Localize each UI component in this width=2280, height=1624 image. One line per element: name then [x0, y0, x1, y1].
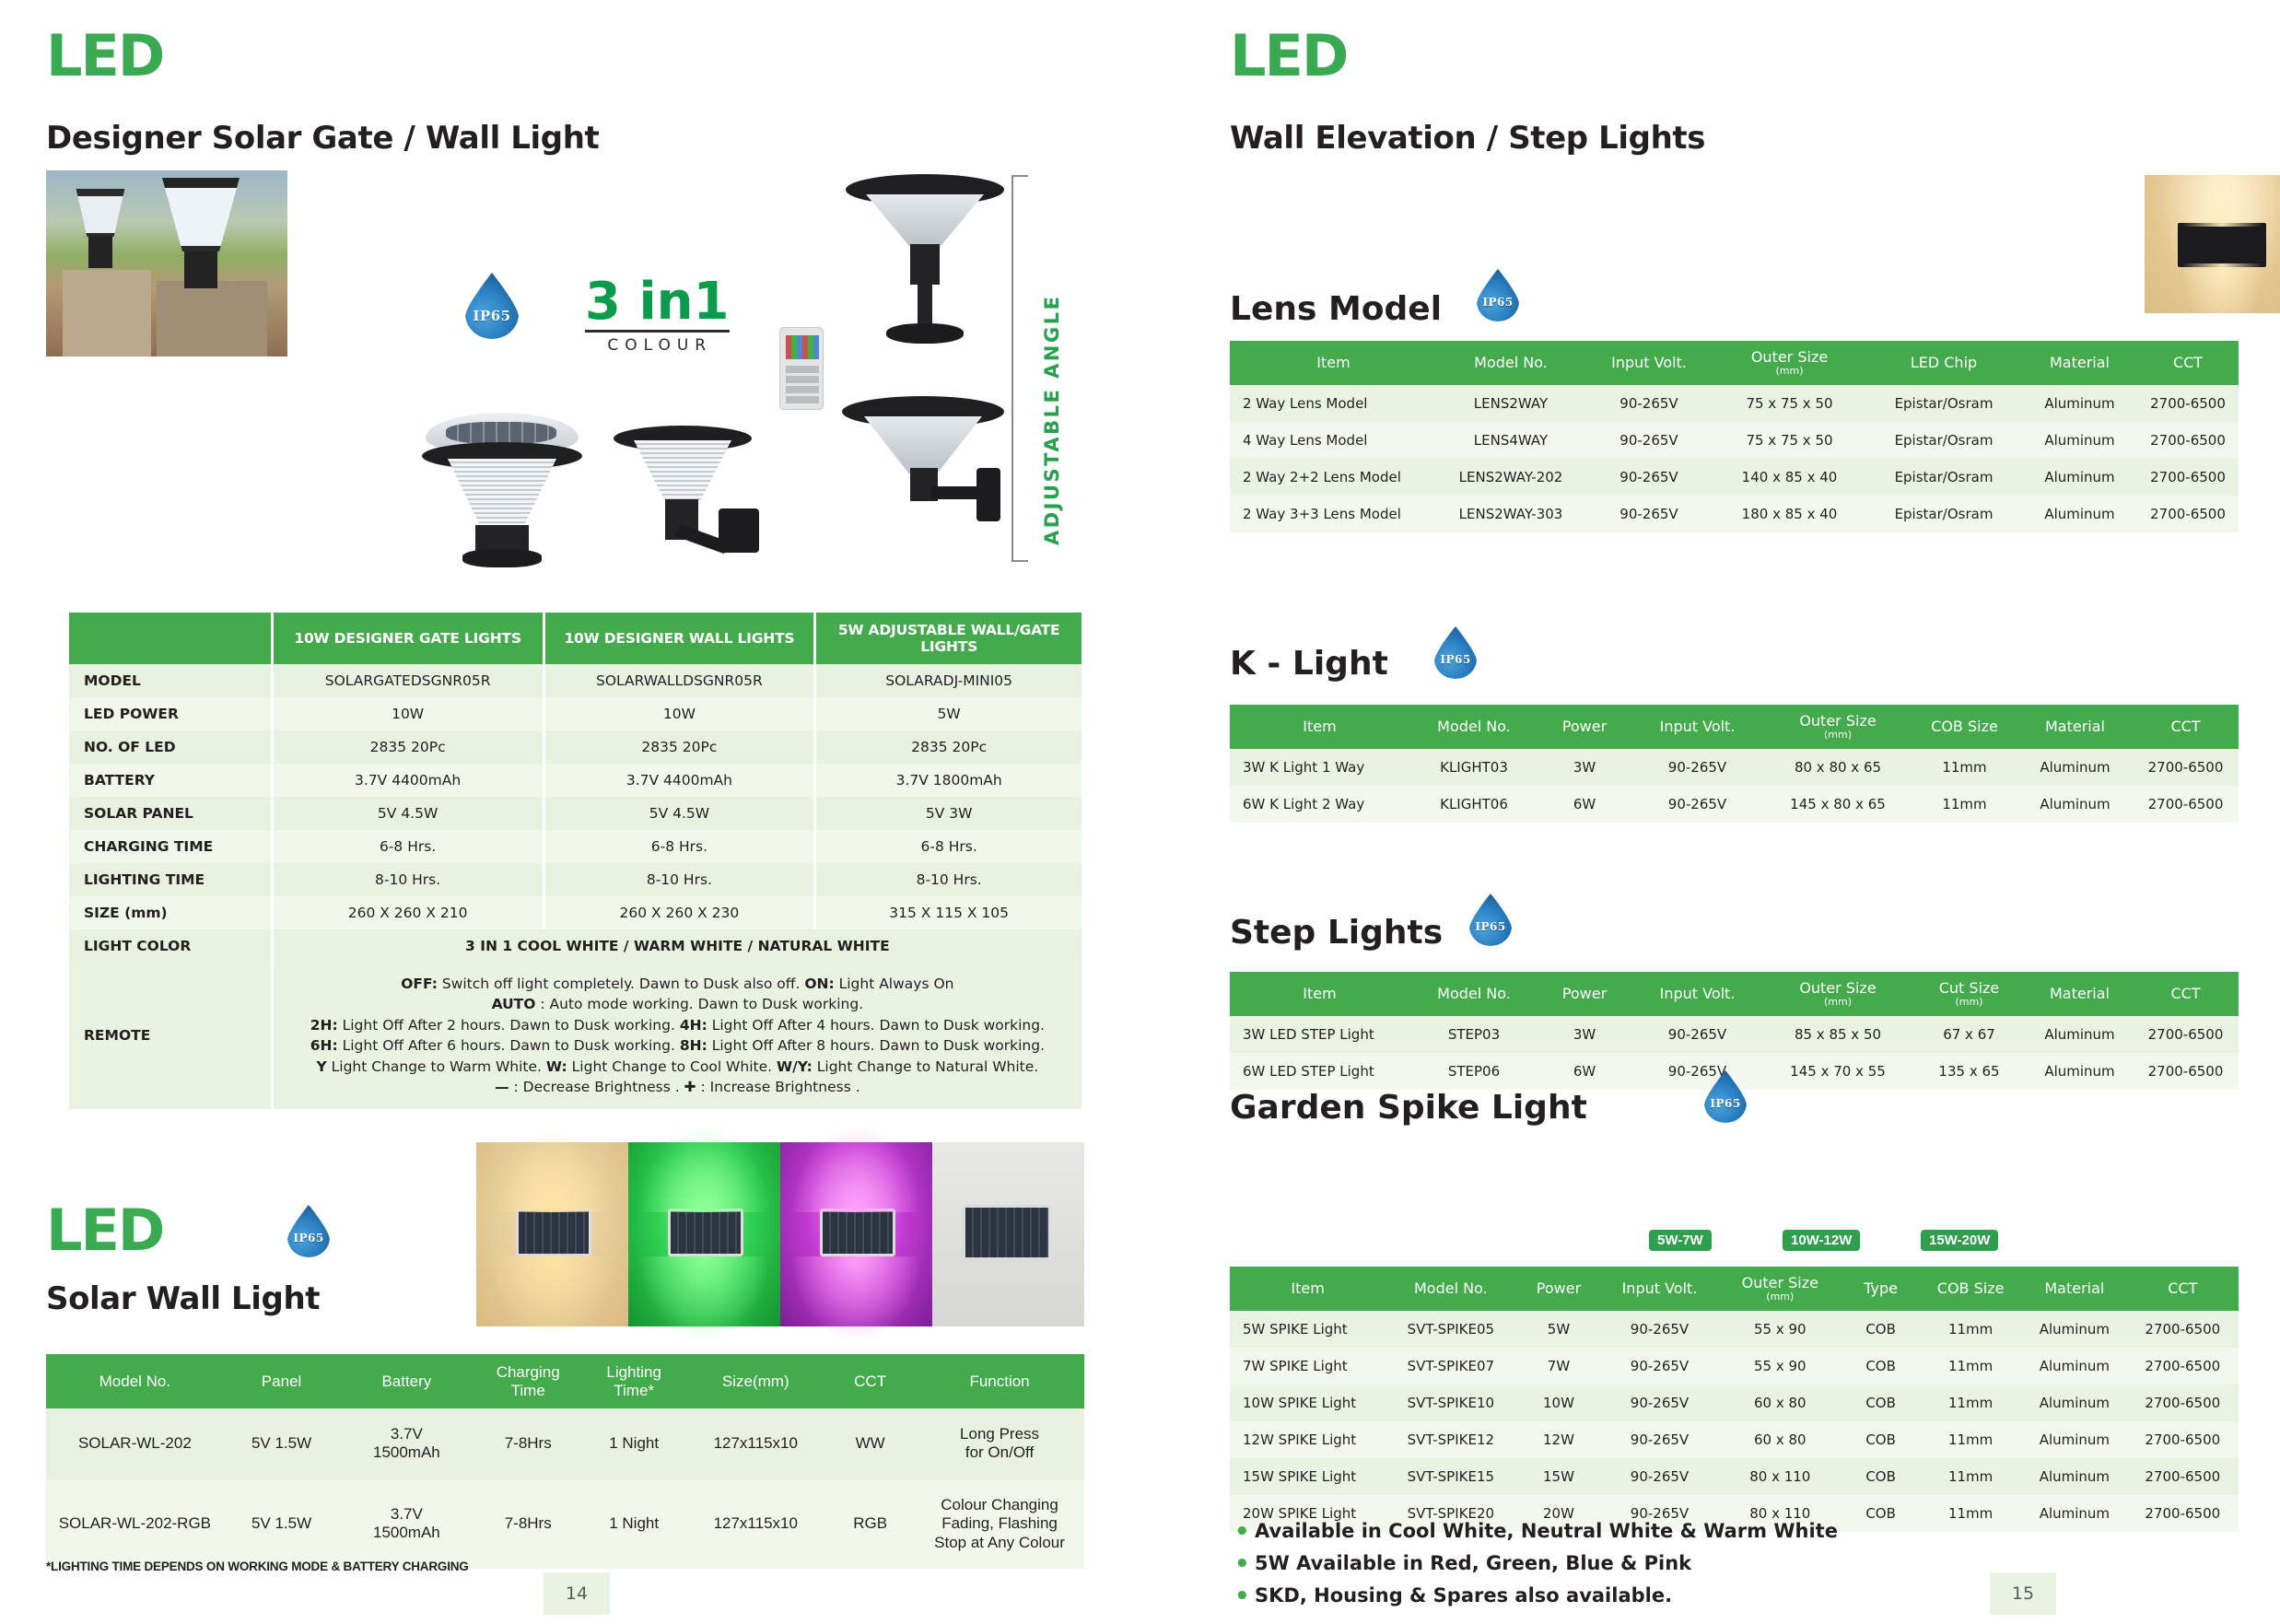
feature-bullet: Available in Cool White, Neutral White &…	[1234, 1520, 1838, 1542]
table-row: SOLAR PANEL5V 4.5W5V 4.5W5V 3W	[69, 797, 1082, 830]
data-cell: Aluminum	[2022, 1311, 2126, 1348]
solar-wall-title: Solar Wall Light	[46, 1280, 320, 1317]
data-cell: 80 x 110	[1717, 1458, 1842, 1495]
photo-warm-white	[476, 1142, 628, 1326]
item-cell: 10W SPIKE Light	[1230, 1384, 1386, 1421]
data-cell: 135 x 65	[1912, 1053, 2027, 1090]
designer-spec-table: 10W DESIGNER GATE LIGHTS 10W DESIGNER WA…	[66, 613, 1084, 1109]
table-row: 5W SPIKE LightSVT-SPIKE055W90-265V55 x 9…	[1230, 1311, 2239, 1348]
data-cell: Epistar/Osram	[1865, 496, 2022, 532]
lens-model-table: ItemModel No.Input Volt.Outer Size(mm)LE…	[1230, 341, 2239, 532]
wl-cell: 7-8Hrs	[474, 1408, 582, 1479]
wl-col-header: Panel	[224, 1354, 340, 1408]
page-number-left: 14	[544, 1572, 610, 1615]
data-cell: 11mm	[1919, 1458, 2022, 1495]
data-cell: 90-265V	[1631, 1016, 1764, 1053]
data-cell: Aluminum	[2027, 1016, 2133, 1053]
lens-photo-2way	[2145, 175, 2280, 313]
table-row: SOLAR-WL-202-RGB5V 1.5W3.7V1500mAh7-8Hrs…	[46, 1479, 1084, 1569]
spec-row-label: MODEL	[69, 664, 271, 697]
col-header: Input Volt.	[1631, 705, 1764, 749]
data-cell: 5W	[1515, 1311, 1601, 1348]
col-header-unit: (mm)	[1721, 1291, 1839, 1303]
data-cell: Aluminum	[2022, 422, 2137, 459]
col-header: CCT	[2127, 1267, 2239, 1311]
table-row: CHARGING TIME6-8 Hrs.6-8 Hrs.6-8 Hrs.	[69, 830, 1082, 863]
data-cell: SVT-SPIKE05	[1386, 1311, 1515, 1348]
item-cell: 15W SPIKE Light	[1230, 1458, 1386, 1495]
table-header-row: ItemModel No.PowerInput Volt.Outer Size(…	[1230, 972, 2239, 1016]
table-row: LED POWER10W10W5W	[69, 697, 1082, 730]
spec-cell: 6-8 Hrs.	[545, 830, 814, 863]
wall-lamp-render-2	[608, 405, 792, 571]
data-cell: 6W	[1538, 786, 1631, 823]
table-row: 7W SPIKE LightSVT-SPIKE077W90-265V55 x 9…	[1230, 1348, 2239, 1384]
wl-cell: Long Pressfor On/Off	[915, 1408, 1084, 1479]
data-cell: Aluminum	[2017, 749, 2133, 786]
light-color-value: 3 IN 1 COOL WHITE / WARM WHITE / NATURAL…	[274, 929, 1082, 963]
data-cell: 90-265V	[1584, 422, 1713, 459]
col-header: CCT	[2137, 341, 2239, 385]
col-header-unit: (mm)	[1768, 730, 1908, 741]
th-blank	[69, 613, 271, 664]
data-cell: 90-265V	[1584, 459, 1713, 496]
ip65-badge-solar-wall: IP65	[287, 1205, 330, 1257]
data-cell: COB	[1842, 1348, 1919, 1384]
spec-cell: 5V 4.5W	[274, 797, 543, 830]
data-cell: 11mm	[1912, 749, 2017, 786]
data-cell: Aluminum	[2022, 1384, 2126, 1421]
data-cell: 2700-6500	[2133, 1016, 2239, 1053]
data-cell: Aluminum	[2022, 1348, 2126, 1384]
solar-wall-photos	[476, 1142, 1084, 1326]
table-row: 4 Way Lens ModelLENS4WAY90-265V75 x 75 x…	[1230, 422, 2239, 459]
data-cell: 145 x 70 x 55	[1764, 1053, 1912, 1090]
col-header: Model No.	[1409, 705, 1538, 749]
col-header: CCT	[2133, 972, 2239, 1016]
spec-row-label: LED POWER	[69, 697, 271, 730]
wl-cell: RGB	[825, 1479, 915, 1569]
data-cell: 90-265V	[1602, 1311, 1718, 1348]
klight-table: ItemModel No.PowerInput Volt.Outer Size(…	[1230, 705, 2239, 823]
data-cell: KLIGHT06	[1409, 786, 1538, 823]
data-cell: 2700-6500	[2127, 1348, 2239, 1384]
data-cell: COB	[1842, 1384, 1919, 1421]
data-cell: 3W	[1538, 749, 1631, 786]
wl-col-header: Battery	[339, 1354, 474, 1408]
page-title-left: Designer Solar Gate / Wall Light	[46, 120, 599, 157]
wl-col-header: CCT	[825, 1354, 915, 1408]
photo-product-off	[932, 1142, 1084, 1326]
th-wall: 10W DESIGNER WALL LIGHTS	[545, 613, 814, 664]
data-cell: 85 x 85 x 50	[1764, 1016, 1912, 1053]
table-row: SOLAR-WL-2025V 1.5W3.7V1500mAh7-8Hrs1 Ni…	[46, 1408, 1084, 1479]
table-row: BATTERY3.7V 4400mAh3.7V 4400mAh3.7V 1800…	[69, 764, 1082, 797]
table-row: 12W SPIKE LightSVT-SPIKE1212W90-265V60 x…	[1230, 1421, 2239, 1458]
data-cell: 2700-6500	[2133, 749, 2239, 786]
wl-cell: 5V 1.5W	[224, 1408, 340, 1479]
adjustable-lamp-render-top	[829, 170, 1023, 355]
col-header: Model No.	[1409, 972, 1538, 1016]
data-cell: 2700-6500	[2137, 496, 2239, 532]
adjustable-lamp-render-bottom	[829, 387, 1027, 562]
table-header-row: ItemModel No.PowerInput Volt.Outer Size(…	[1230, 705, 2239, 749]
data-cell: 11mm	[1919, 1348, 2022, 1384]
spec-cell: 2835 20Pc	[545, 730, 814, 764]
data-cell: Epistar/Osram	[1865, 422, 2022, 459]
col-header: Power	[1538, 705, 1631, 749]
data-cell: 90-265V	[1602, 1384, 1718, 1421]
table-header-row: ItemModel No.PowerInput Volt.Outer Size(…	[1230, 1267, 2239, 1311]
data-cell: SVT-SPIKE12	[1386, 1421, 1515, 1458]
data-cell: 67 x 67	[1912, 1016, 2027, 1053]
data-cell: KLIGHT03	[1409, 749, 1538, 786]
item-cell: 6W LED STEP Light	[1230, 1053, 1409, 1090]
data-cell: Aluminum	[2022, 1495, 2126, 1532]
lens-model-title: Lens Model	[1230, 290, 1442, 328]
item-cell: 4 Way Lens Model	[1230, 422, 1437, 459]
col-header: Outer Size(mm)	[1764, 972, 1912, 1016]
table-row: MODELSOLARGATEDSGNR05RSOLARWALLDSGNR05RS…	[69, 664, 1082, 697]
solar-wall-footnote: *LIGHTING TIME DEPENDS ON WORKING MODE &…	[46, 1560, 469, 1573]
table-header-row: Model No.PanelBatteryChargingTimeLightin…	[46, 1354, 1084, 1408]
data-cell: 2700-6500	[2127, 1311, 2239, 1348]
spec-cell: 315 X 115 X 105	[816, 896, 1082, 929]
data-cell: LENS2WAY-202	[1437, 459, 1584, 496]
data-cell: 55 x 90	[1717, 1311, 1842, 1348]
left-page: LED Designer Solar Gate / Wall Light IP6…	[0, 0, 1142, 1624]
item-cell: 2 Way 3+3 Lens Model	[1230, 496, 1437, 532]
table-row-light-color: LIGHT COLOR3 IN 1 COOL WHITE / WARM WHIT…	[69, 929, 1082, 963]
data-cell: 11mm	[1919, 1421, 2022, 1458]
data-cell: 90-265V	[1584, 496, 1713, 532]
gate-lamp-render-1	[415, 405, 590, 571]
col-header-unit: (mm)	[1768, 997, 1908, 1008]
wl-col-header: LightingTime*	[582, 1354, 685, 1408]
wattage-badge: 10W-12W	[1783, 1230, 1860, 1251]
data-cell: 11mm	[1912, 786, 2017, 823]
spec-cell: 8-10 Hrs.	[274, 863, 543, 896]
feature-bullet: SKD, Housing & Spares also available.	[1234, 1584, 1838, 1606]
table-row: 3W K Light 1 WayKLIGHT033W90-265V80 x 80…	[1230, 749, 2239, 786]
data-cell: 10W	[1515, 1384, 1601, 1421]
data-cell: 11mm	[1919, 1311, 2022, 1348]
brand-logo-right: LED	[1230, 28, 1347, 85]
remote-control-image	[779, 327, 824, 410]
data-cell: 90-265V	[1584, 385, 1713, 422]
wl-cell: 1 Night	[582, 1479, 685, 1569]
water-drop-icon	[465, 273, 519, 339]
ip65-badge-spike-main: IP65	[1704, 1070, 1747, 1123]
col-header: Outer Size(mm)	[1717, 1267, 1842, 1311]
data-cell: LENS4WAY	[1437, 422, 1584, 459]
data-cell: 60 x 80	[1717, 1421, 1842, 1458]
data-cell: Aluminum	[2022, 385, 2137, 422]
table-row-remote: REMOTEOFF: Switch off light completely. …	[69, 963, 1082, 1109]
spec-cell: 5W	[816, 697, 1082, 730]
item-cell: 7W SPIKE Light	[1230, 1348, 1386, 1384]
data-cell: 90-265V	[1602, 1421, 1718, 1458]
col-header: Item	[1230, 972, 1409, 1016]
col-header: Item	[1230, 341, 1437, 385]
wl-cell: 1 Night	[582, 1408, 685, 1479]
col-header: COB Size	[1919, 1267, 2022, 1311]
adjustable-angle-bracket	[1011, 175, 1028, 562]
col-header-unit: (mm)	[1717, 366, 1862, 377]
col-header: Item	[1230, 1267, 1386, 1311]
item-cell: 6W K Light 2 Way	[1230, 786, 1409, 823]
data-cell: Aluminum	[2022, 1421, 2126, 1458]
wl-cell: Colour ChangingFading, FlashingStop at A…	[915, 1479, 1084, 1569]
data-cell: 6W	[1538, 1053, 1631, 1090]
spec-cell: 3.7V 4400mAh	[274, 764, 543, 797]
brand-logo-solar-wall: LED	[46, 1202, 163, 1259]
col-header: Type	[1842, 1267, 1919, 1311]
th-gate: 10W DESIGNER GATE LIGHTS	[274, 613, 543, 664]
data-cell: 75 x 75 x 50	[1713, 422, 1865, 459]
spec-cell: 2835 20Pc	[274, 730, 543, 764]
col-header: CCT	[2133, 705, 2239, 749]
klight-title: K - Light	[1230, 645, 1388, 683]
photo-magenta	[780, 1142, 932, 1326]
item-cell: 3W K Light 1 Way	[1230, 749, 1409, 786]
spec-cell: SOLARADJ-MINI05	[816, 664, 1082, 697]
col-header: Outer Size(mm)	[1764, 705, 1912, 749]
data-cell: 2700-6500	[2127, 1495, 2239, 1532]
col-header: Material	[2022, 1267, 2126, 1311]
data-cell: 2700-6500	[2127, 1421, 2239, 1458]
spec-row-label: BATTERY	[69, 764, 271, 797]
data-cell: 2700-6500	[2133, 1053, 2239, 1090]
spec-cell: 8-10 Hrs.	[545, 863, 814, 896]
col-header: Cut Size(mm)	[1912, 972, 2027, 1016]
col-header: Material	[2027, 972, 2133, 1016]
data-cell: Aluminum	[2027, 1053, 2133, 1090]
wl-cell: 7-8Hrs	[474, 1479, 582, 1569]
ip65-badge-step: IP65	[1469, 894, 1512, 946]
data-cell: 75 x 75 x 50	[1713, 385, 1865, 422]
right-page: LED Wall Elevation / Step Lights Lens Mo…	[1142, 0, 2280, 1624]
data-cell: Epistar/Osram	[1865, 459, 2022, 496]
table-row: 10W SPIKE LightSVT-SPIKE1010W90-265V60 x…	[1230, 1384, 2239, 1421]
table-row: LIGHTING TIME8-10 Hrs.8-10 Hrs.8-10 Hrs.	[69, 863, 1082, 896]
spec-cell: 5V 4.5W	[545, 797, 814, 830]
data-cell: 7W	[1515, 1348, 1601, 1384]
page-number-right: 15	[1990, 1572, 2056, 1615]
wl-cell: 5V 1.5W	[224, 1479, 340, 1569]
item-cell: 3W LED STEP Light	[1230, 1016, 1409, 1053]
page-title-right: Wall Elevation / Step Lights	[1230, 120, 1705, 157]
data-cell: STEP03	[1409, 1016, 1538, 1053]
brand-logo-left: LED	[46, 28, 163, 85]
data-cell: 11mm	[1919, 1384, 2022, 1421]
col-header: Input Volt.	[1631, 972, 1764, 1016]
col-header: COB Size	[1912, 705, 2017, 749]
ip65-badge-gate: IP65	[465, 273, 519, 339]
data-cell: LENS2WAY-303	[1437, 496, 1584, 532]
table-row: 2 Way 2+2 Lens ModelLENS2WAY-20290-265V1…	[1230, 459, 2239, 496]
data-cell: 2700-6500	[2137, 459, 2239, 496]
table-row: 6W K Light 2 WayKLIGHT066W90-265V145 x 8…	[1230, 786, 2239, 823]
ip65-badge-klight: IP65	[1434, 626, 1477, 679]
wl-col-header: Size(mm)	[685, 1354, 825, 1408]
data-cell: 11mm	[1919, 1495, 2022, 1532]
item-cell: 5W SPIKE Light	[1230, 1311, 1386, 1348]
col-header: Material	[2017, 705, 2133, 749]
col-header: Item	[1230, 705, 1409, 749]
data-cell: SVT-SPIKE10	[1386, 1384, 1515, 1421]
data-cell: 55 x 90	[1717, 1348, 1842, 1384]
table-header-row: ItemModel No.Input Volt.Outer Size(mm)LE…	[1230, 341, 2239, 385]
data-cell: Aluminum	[2017, 786, 2133, 823]
wl-col-header: Model No.	[46, 1354, 224, 1408]
data-cell: 140 x 85 x 40	[1713, 459, 1865, 496]
th-adjustable: 5W ADJUSTABLE WALL/GATE LIGHTS	[816, 613, 1082, 664]
wl-cell: 127x115x10	[685, 1479, 825, 1569]
remote-label: REMOTE	[69, 963, 271, 1109]
light-color-label: LIGHT COLOR	[69, 929, 271, 963]
ip65-badge-lens: IP65	[1477, 269, 1519, 321]
item-cell: 2 Way Lens Model	[1230, 385, 1437, 422]
spec-cell: 2835 20Pc	[816, 730, 1082, 764]
spec-row-label: SIZE (mm)	[69, 896, 271, 929]
col-header: Outer Size(mm)	[1713, 341, 1865, 385]
photo-green	[628, 1142, 780, 1326]
table-header-row: 10W DESIGNER GATE LIGHTS 10W DESIGNER WA…	[69, 613, 1082, 664]
item-cell: 12W SPIKE Light	[1230, 1421, 1386, 1458]
data-cell: Aluminum	[2022, 1458, 2126, 1495]
table-row: 15W SPIKE LightSVT-SPIKE1515W90-265V80 x…	[1230, 1458, 2239, 1495]
col-header: Input Volt.	[1602, 1267, 1718, 1311]
wl-cell: WW	[825, 1408, 915, 1479]
data-cell: 145 x 80 x 65	[1764, 786, 1912, 823]
spec-row-label: NO. OF LED	[69, 730, 271, 764]
data-cell: 2700-6500	[2137, 385, 2239, 422]
data-cell: Epistar/Osram	[1865, 385, 2022, 422]
step-lights-title: Step Lights	[1230, 914, 1443, 952]
adjustable-angle-label: ADJUSTABLE ANGLE	[1041, 204, 1063, 545]
data-cell: COB	[1842, 1495, 1919, 1532]
data-cell: 2700-6500	[2133, 786, 2239, 823]
spec-cell: 3.7V 1800mAh	[816, 764, 1082, 797]
col-header-unit: (mm)	[1915, 997, 2023, 1008]
data-cell: STEP06	[1409, 1053, 1538, 1090]
remote-instructions: OFF: Switch off light completely. Dawn t…	[274, 963, 1082, 1109]
data-cell: 90-265V	[1631, 786, 1764, 823]
table-row: 3W LED STEP LightSTEP033W90-265V85 x 85 …	[1230, 1016, 2239, 1053]
wl-cell: SOLAR-WL-202	[46, 1408, 224, 1479]
col-header: Power	[1515, 1267, 1601, 1311]
data-cell: 60 x 80	[1717, 1384, 1842, 1421]
data-cell: COB	[1842, 1421, 1919, 1458]
spec-cell: 260 X 260 X 230	[545, 896, 814, 929]
feature-bullets: Available in Cool White, Neutral White &…	[1234, 1520, 1838, 1617]
solar-wall-table: Model No.PanelBatteryChargingTimeLightin…	[46, 1354, 1084, 1569]
spec-row-label: LIGHTING TIME	[69, 863, 271, 896]
data-cell: 180 x 85 x 40	[1713, 496, 1865, 532]
spec-cell: 5V 3W	[816, 797, 1082, 830]
data-cell: 2700-6500	[2127, 1384, 2239, 1421]
spec-cell: SOLARGATEDSGNR05R	[274, 664, 543, 697]
wl-col-header: ChargingTime	[474, 1354, 582, 1408]
table-row: NO. OF LED2835 20Pc2835 20Pc2835 20Pc	[69, 730, 1082, 764]
wattage-badge: 15W-20W	[1921, 1230, 1998, 1251]
three-in-one-badge: 3 in1 COLOUR	[585, 276, 730, 355]
wl-col-header: Function	[915, 1354, 1084, 1408]
data-cell: SVT-SPIKE07	[1386, 1348, 1515, 1384]
data-cell: 2700-6500	[2137, 422, 2239, 459]
spec-cell: 6-8 Hrs.	[274, 830, 543, 863]
spec-cell: 10W	[545, 697, 814, 730]
data-cell: 90-265V	[1631, 749, 1764, 786]
feature-bullet: 5W Available in Red, Green, Blue & Pink	[1234, 1552, 1838, 1574]
wl-cell: 3.7V1500mAh	[339, 1479, 474, 1569]
data-cell: 12W	[1515, 1421, 1601, 1458]
wl-cell: 127x115x10	[685, 1408, 825, 1479]
data-cell: 80 x 80 x 65	[1764, 749, 1912, 786]
gate-light-photo	[46, 170, 287, 356]
spike-title: Garden Spike Light	[1230, 1089, 1587, 1127]
spec-cell: 6-8 Hrs.	[816, 830, 1082, 863]
data-cell: SVT-SPIKE15	[1386, 1458, 1515, 1495]
table-row: SIZE (mm)260 X 260 X 210260 X 260 X 2303…	[69, 896, 1082, 929]
spec-row-label: SOLAR PANEL	[69, 797, 271, 830]
col-header: Model No.	[1437, 341, 1584, 385]
data-cell: Aluminum	[2022, 496, 2137, 532]
table-row: 2 Way Lens ModelLENS2WAY90-265V75 x 75 x…	[1230, 385, 2239, 422]
data-cell: 15W	[1515, 1458, 1601, 1495]
spec-cell: SOLARWALLDSGNR05R	[545, 664, 814, 697]
wl-cell: SOLAR-WL-202-RGB	[46, 1479, 224, 1569]
data-cell: LENS2WAY	[1437, 385, 1584, 422]
wl-cell: 3.7V1500mAh	[339, 1408, 474, 1479]
wattage-badge: 5W-7W	[1649, 1230, 1712, 1251]
data-cell: 90-265V	[1602, 1348, 1718, 1384]
col-header: Model No.	[1386, 1267, 1515, 1311]
data-cell: 90-265V	[1602, 1458, 1718, 1495]
spec-cell: 8-10 Hrs.	[816, 863, 1082, 896]
item-cell: 2 Way 2+2 Lens Model	[1230, 459, 1437, 496]
col-header: Input Volt.	[1584, 341, 1713, 385]
data-cell: Aluminum	[2022, 459, 2137, 496]
table-row: 2 Way 3+3 Lens ModelLENS2WAY-30390-265V1…	[1230, 496, 2239, 532]
spec-cell: 10W	[274, 697, 543, 730]
col-header: Power	[1538, 972, 1631, 1016]
col-header: LED Chip	[1865, 341, 2022, 385]
col-header: Material	[2022, 341, 2137, 385]
spec-cell: 3.7V 4400mAh	[545, 764, 814, 797]
data-cell: 2700-6500	[2127, 1458, 2239, 1495]
spike-light-table: ItemModel No.PowerInput Volt.Outer Size(…	[1230, 1267, 2239, 1532]
data-cell: COB	[1842, 1458, 1919, 1495]
spec-cell: 260 X 260 X 210	[274, 896, 543, 929]
data-cell: COB	[1842, 1311, 1919, 1348]
data-cell: 3W	[1538, 1016, 1631, 1053]
spec-row-label: CHARGING TIME	[69, 830, 271, 863]
